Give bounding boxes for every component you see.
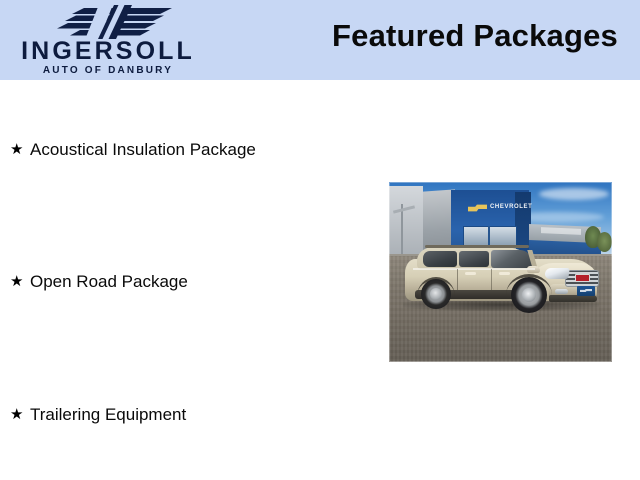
beltline-highlight [413, 268, 535, 270]
logo-wordmark: INGERSOLL [8, 38, 208, 64]
ingersoll-wing-emblem [54, 5, 176, 39]
lower-bumper [549, 295, 597, 302]
featured-packages-list: ★ Acoustical Insulation Package ★ Open R… [0, 80, 380, 480]
side-window [459, 251, 489, 267]
door-gap [457, 269, 458, 291]
package-label: Trailering Equipment [30, 404, 186, 426]
package-label: Open Road Package [30, 271, 188, 293]
brand-logo: INGERSOLL AUTO OF DANBURY [8, 2, 208, 78]
door-handle [499, 272, 510, 275]
list-item: ★ Acoustical Insulation Package [10, 138, 370, 162]
header-banner: INGERSOLL AUTO OF DANBURY Featured Packa… [0, 0, 640, 80]
rear-window [423, 251, 457, 267]
list-item: ★ Open Road Package [10, 270, 370, 294]
headlight [544, 268, 570, 279]
list-item: ★ Trailering Equipment [10, 403, 370, 427]
logo-tagline: AUTO OF DANBURY [8, 65, 208, 76]
fog-light [555, 289, 568, 294]
rear-wheel-hub [430, 288, 442, 300]
star-bullet-icon: ★ [10, 404, 30, 426]
door-handle [465, 272, 476, 275]
star-bullet-icon: ★ [10, 271, 30, 293]
gmc-badge-icon [575, 274, 590, 282]
front-wheel-hub [522, 288, 536, 302]
roof-rails [425, 245, 529, 248]
star-bullet-icon: ★ [10, 139, 30, 161]
page-title: Featured Packages [332, 18, 618, 54]
cloud [539, 188, 609, 200]
windshield [491, 250, 533, 268]
package-label: Acoustical Insulation Package [30, 139, 256, 161]
vehicle-photo: CHEVROLET [389, 182, 612, 362]
dealership-sign-text: CHEVROLET [490, 204, 532, 210]
suv-vehicle [399, 237, 604, 315]
